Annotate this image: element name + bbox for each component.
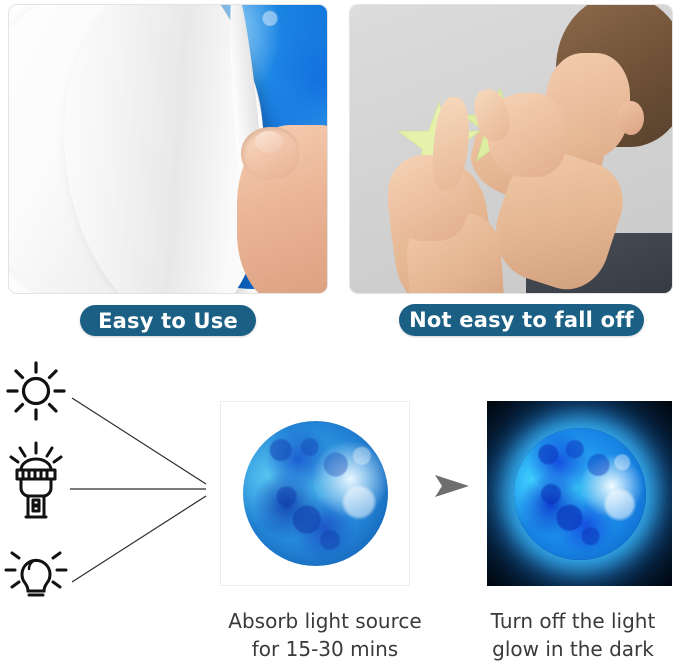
- sun-icon: [4, 359, 68, 423]
- boy-sticking-stars-photo: [349, 4, 673, 294]
- caption-glow-dark: Turn off the light glow in the dark: [467, 608, 679, 663]
- caption-absorb-line2: for 15-30 mins: [190, 636, 460, 664]
- caption-glow-line1: Turn off the light: [467, 608, 679, 636]
- photo-content: [9, 5, 327, 293]
- thumbnail: [255, 131, 283, 153]
- boy-ear: [618, 101, 644, 135]
- glowing-moon-sticker: [514, 428, 646, 560]
- hand-peeling-backing-photo: [8, 4, 328, 294]
- caption-absorb-light: Absorb light source for 15-30 mins: [190, 608, 460, 663]
- blue-moon-sticker: [243, 421, 388, 566]
- badge-easy-to-use: Easy to Use: [80, 305, 256, 336]
- caption-absorb-line1: Absorb light source: [190, 608, 460, 636]
- convergence-lines: [70, 392, 210, 588]
- arrow-right-icon: [433, 472, 471, 500]
- caption-glow-line2: glow in the dark: [467, 636, 679, 664]
- flashlight-icon: [4, 441, 68, 519]
- blue-moon-sticker-frame: [220, 401, 410, 586]
- glowing-moon-frame: [487, 401, 672, 586]
- photo-content: [350, 5, 672, 293]
- badge-not-easy-to-fall-off: Not easy to fall off: [399, 304, 644, 336]
- light-bulb-icon: [4, 537, 68, 601]
